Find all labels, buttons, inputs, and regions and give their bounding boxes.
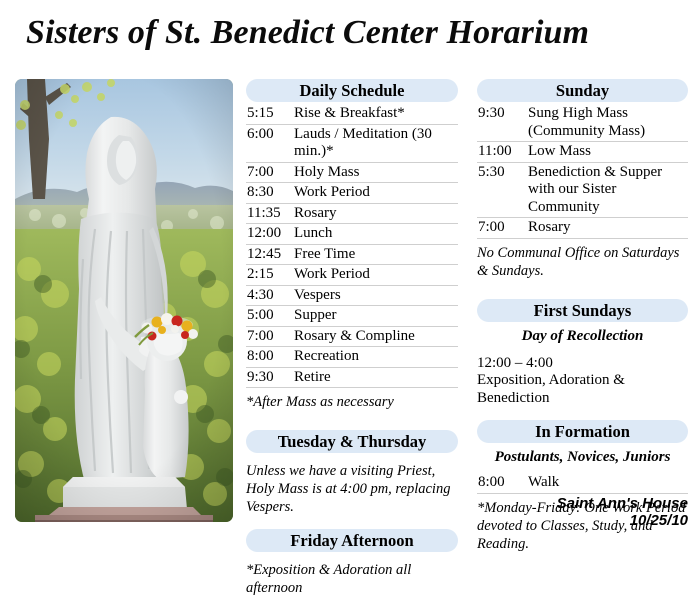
section-heading-daily-schedule: Daily Schedule bbox=[246, 79, 458, 102]
section-heading-in-formation: In Formation bbox=[477, 420, 688, 443]
signature-date: 10/25/10 bbox=[557, 512, 688, 529]
row-time: 8:00 bbox=[246, 347, 287, 368]
row-event: Recreation bbox=[287, 347, 458, 368]
row-event: Rosary bbox=[287, 203, 458, 224]
table-row: 7:00 Rosary & Compline bbox=[246, 326, 458, 347]
table-row: 8:00 Recreation bbox=[246, 347, 458, 368]
sunday-footnote: No Communal Office on Saturdays & Sunday… bbox=[477, 244, 688, 280]
middle-column: Daily Schedule 5:15 Rise & Breakfast* 6:… bbox=[246, 79, 458, 597]
signature-house: Saint Ann's House bbox=[557, 495, 688, 512]
table-row: 8:00 Walk bbox=[477, 473, 688, 493]
row-event: Retire bbox=[287, 367, 458, 388]
first-sundays-subtitle: Day of Recollection bbox=[477, 327, 688, 346]
row-time: 7:00 bbox=[477, 218, 522, 239]
table-row: 7:00 Holy Mass bbox=[246, 162, 458, 183]
table-row: 9:30 Retire bbox=[246, 367, 458, 388]
sunday-schedule-table: 9:30 Sung High Mass (Community Mass) 11:… bbox=[477, 104, 688, 239]
row-time: 8:00 bbox=[477, 473, 522, 493]
spacer bbox=[477, 407, 688, 420]
row-time: 11:35 bbox=[246, 203, 287, 224]
in-formation-table: 8:00 Walk bbox=[477, 473, 688, 494]
table-row: 8:30 Work Period bbox=[246, 183, 458, 204]
row-time: 8:30 bbox=[246, 183, 287, 204]
row-event: Supper bbox=[287, 306, 458, 327]
spacer bbox=[246, 516, 458, 529]
row-event: Lauds / Meditation (30 min.)* bbox=[287, 124, 458, 162]
row-time: 5:30 bbox=[477, 162, 522, 218]
first-sundays-detail: Exposition, Adoration & Benediction bbox=[477, 372, 688, 407]
spacer bbox=[477, 280, 688, 299]
table-row: 11:35 Rosary bbox=[246, 203, 458, 224]
tuesday-thursday-note: Unless we have a visiting Priest, Holy M… bbox=[246, 462, 458, 516]
row-time: 7:00 bbox=[246, 162, 287, 183]
table-row: 4:30 Vespers bbox=[246, 285, 458, 306]
row-event: Low Mass bbox=[522, 142, 688, 163]
row-time: 2:15 bbox=[246, 265, 287, 286]
table-row: 5:15 Rise & Breakfast* bbox=[246, 104, 458, 124]
table-row: 12:00 Lunch bbox=[246, 224, 458, 245]
friday-afternoon-note: *Exposition & Adoration all afternoon bbox=[246, 561, 458, 597]
row-event: Rosary & Compline bbox=[287, 326, 458, 347]
table-row: 9:30 Sung High Mass (Community Mass) bbox=[477, 104, 688, 142]
row-event: Lunch bbox=[287, 224, 458, 245]
daily-schedule-footnote: *After Mass as necessary bbox=[246, 393, 458, 411]
row-event: Work Period bbox=[287, 265, 458, 286]
row-event: Rosary bbox=[522, 218, 688, 239]
table-row: 6:00 Lauds / Meditation (30 min.)* bbox=[246, 124, 458, 162]
row-time: 9:30 bbox=[477, 104, 522, 142]
signature-block: Saint Ann's House 10/25/10 bbox=[557, 495, 688, 529]
row-event: Work Period bbox=[287, 183, 458, 204]
statue-photo-image bbox=[15, 79, 233, 522]
row-time: 12:45 bbox=[246, 244, 287, 265]
row-event: Holy Mass bbox=[287, 162, 458, 183]
table-row: 5:00 Supper bbox=[246, 306, 458, 327]
row-event: Sung High Mass (Community Mass) bbox=[522, 104, 688, 142]
row-time: 5:00 bbox=[246, 306, 287, 327]
row-event: Benediction & Supper with our Sister Com… bbox=[522, 162, 688, 218]
right-column: Sunday 9:30 Sung High Mass (Community Ma… bbox=[477, 79, 688, 553]
table-row: 11:00 Low Mass bbox=[477, 142, 688, 163]
first-sundays-time-range: 12:00 – 4:00 bbox=[477, 355, 688, 373]
row-event: Rise & Breakfast* bbox=[287, 104, 458, 124]
section-heading-sunday: Sunday bbox=[477, 79, 688, 102]
row-time: 4:30 bbox=[246, 285, 287, 306]
statue-photo bbox=[15, 79, 233, 522]
page-title: Sisters of St. Benedict Center Horarium bbox=[26, 14, 589, 52]
row-time: 6:00 bbox=[246, 124, 287, 162]
row-event: Walk bbox=[522, 473, 688, 493]
section-heading-first-sundays: First Sundays bbox=[477, 299, 688, 322]
table-row: 2:15 Work Period bbox=[246, 265, 458, 286]
row-time: 5:15 bbox=[246, 104, 287, 124]
row-event: Free Time bbox=[287, 244, 458, 265]
daily-schedule-table: 5:15 Rise & Breakfast* 6:00 Lauds / Medi… bbox=[246, 104, 458, 388]
table-row: 5:30 Benediction & Supper with our Siste… bbox=[477, 162, 688, 218]
table-row: 12:45 Free Time bbox=[246, 244, 458, 265]
table-row: 7:00 Rosary bbox=[477, 218, 688, 239]
row-time: 7:00 bbox=[246, 326, 287, 347]
section-heading-tuesday-thursday: Tuesday & Thursday bbox=[246, 430, 458, 453]
in-formation-subtitle: Postulants, Novices, Juniors bbox=[477, 448, 688, 467]
row-time: 11:00 bbox=[477, 142, 522, 163]
spacer bbox=[246, 411, 458, 430]
row-time: 9:30 bbox=[246, 367, 287, 388]
row-event: Vespers bbox=[287, 285, 458, 306]
row-time: 12:00 bbox=[246, 224, 287, 245]
